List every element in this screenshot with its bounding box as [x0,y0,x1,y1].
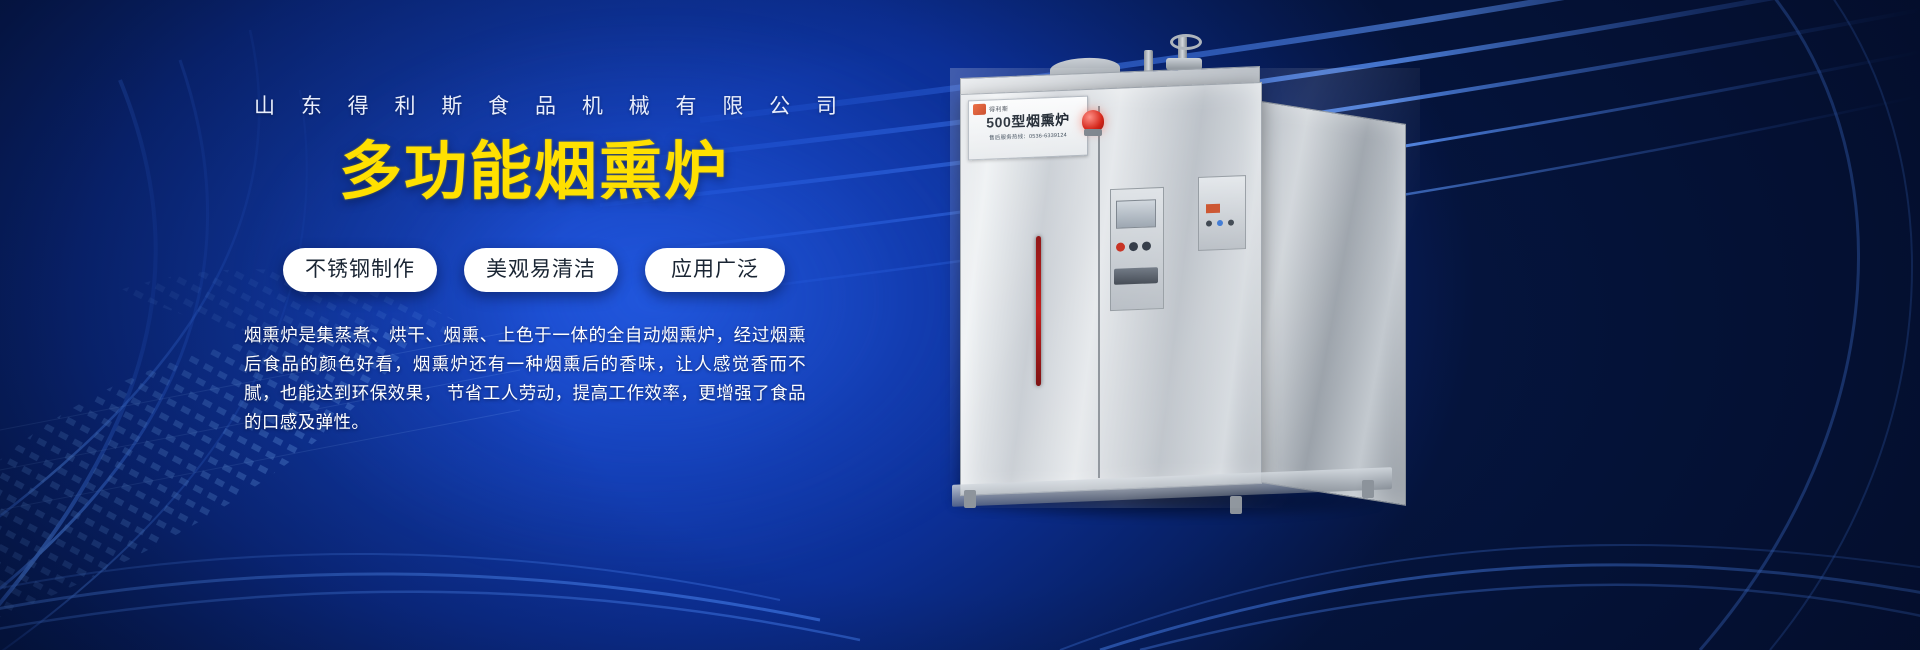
nameplate-brand-name: 得利斯 [989,104,1009,114]
control-button-icon [1129,242,1138,251]
nameplate-model: 500型烟熏炉 [969,112,1087,132]
company-name: 山 东 得 利 斯 食 品 机 械 有 限 公 司 [244,96,824,117]
nameplate-hotline: 售后服务热线：0536-6339124 [969,130,1087,143]
alarm-beacon-base [1084,129,1102,136]
feature-pill-easy-clean[interactable]: 美观易清洁 [464,248,618,292]
indicator-icon [1206,220,1212,226]
door-seam [1098,106,1100,478]
machine-foot [1230,496,1242,514]
control-panel-strip [1114,267,1158,285]
product-image: 得利斯 500型烟熏炉 售后服务热线：0536-6339124 [930,28,1490,528]
feature-pill-label: 不锈钢制作 [305,258,415,281]
valve-wheel-icon [1170,34,1202,50]
junction-box-indicators [1206,219,1236,228]
junction-box-tag [1206,204,1220,214]
feature-pill-stainless-steel[interactable]: 不锈钢制作 [283,248,437,292]
description-text: 烟熏炉是集蒸煮、烘干、烟熏、上色于一体的全自动烟熏炉，经过烟熏后食品的颜色好看，… [244,321,806,437]
machine-foot [964,490,976,508]
machine-foot [1362,480,1374,498]
door-handle [1036,236,1041,386]
power-button-icon [1116,242,1125,251]
indicator-icon [1217,220,1223,226]
control-panel-buttons [1116,241,1156,257]
brand-logo-icon [973,104,986,116]
page-title: 多功能烟熏炉 [244,139,824,206]
banner-copy: 山 东 得 利 斯 食 品 机 械 有 限 公 司 多功能烟熏炉 不锈钢制作 美… [244,96,824,455]
machine-nameplate: 得利斯 500型烟熏炉 售后服务热线：0536-6339124 [968,96,1088,161]
feature-pill-wide-application[interactable]: 应用广泛 [645,248,785,292]
feature-pill-label: 应用广泛 [671,258,759,281]
indicator-icon [1228,219,1234,225]
feature-pill-list: 不锈钢制作 美观易清洁 应用广泛 [244,248,824,292]
control-panel-screen [1116,199,1156,229]
feature-pill-label: 美观易清洁 [486,258,596,281]
banner-stage: 山 东 得 利 斯 食 品 机 械 有 限 公 司 多功能烟熏炉 不锈钢制作 美… [0,0,1920,650]
cabinet-side-panel [1256,100,1406,506]
control-button-icon [1142,241,1151,250]
